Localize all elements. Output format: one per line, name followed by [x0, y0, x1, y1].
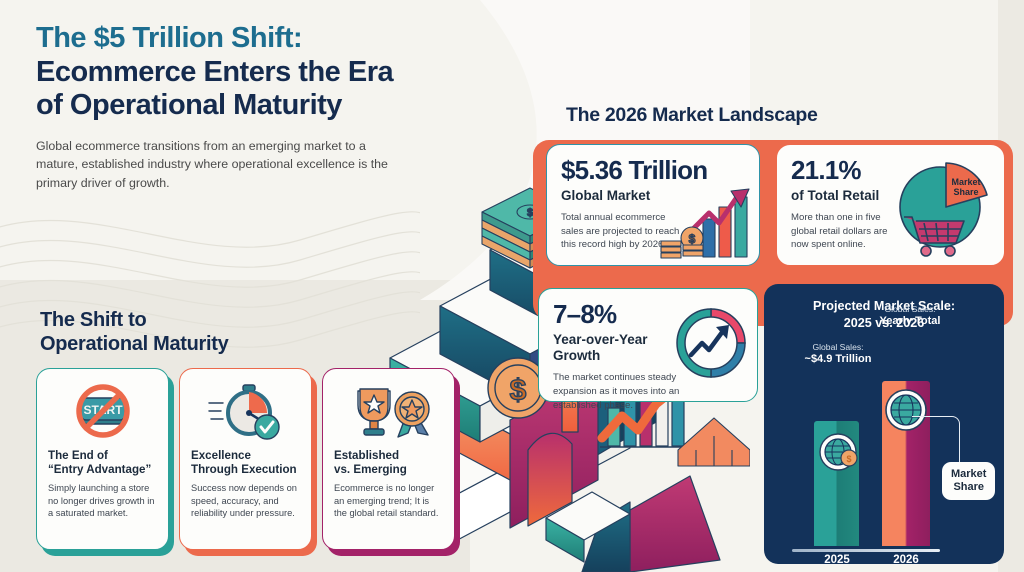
- stat-body-yoy-growth: The market continues steady expansion as…: [553, 371, 685, 412]
- page-title-line3: of Operational Maturity: [36, 89, 342, 121]
- axis-label-2025: 2025: [810, 554, 864, 564]
- infographic-canvas: The $5 Trillion Shift: Ecommerce Enters …: [0, 0, 1024, 572]
- shift-card-established-emerging: Established vs. Emerging Ecommerce is no…: [322, 368, 455, 550]
- shift-section-heading: The Shift to Operational Maturity: [40, 308, 228, 357]
- stat-body-total-retail: More than one in five global retail doll…: [791, 211, 899, 252]
- svg-text:$: $: [510, 374, 527, 407]
- shift-card-list: START The End of “Entry Advantage” Simpl…: [36, 368, 455, 550]
- bar-caption-2026-small: Global Sales:: [858, 304, 962, 315]
- stat-value-global-market: $5.36 Trillion: [561, 157, 745, 183]
- shift-card-body: Success now depends on speed, accuracy, …: [191, 482, 300, 520]
- bar-chart-arrow-coins-icon: $: [657, 183, 753, 261]
- trophy-award-ribbon-icon: [334, 381, 443, 443]
- landscape-section-heading: The 2026 Market Landscape: [566, 104, 818, 127]
- shift-card-title-line1: Established: [334, 449, 443, 463]
- pie-chart-shopping-cart-icon: Market Share: [888, 151, 1000, 261]
- chart-axis-line: [792, 549, 940, 552]
- shift-card-body: Ecommerce is no longer an emerging trend…: [334, 482, 443, 520]
- bar-caption-2025-big: ~$4.9 Trillion: [786, 353, 890, 367]
- callout-connector-line: [912, 416, 960, 466]
- shift-heading-line2: Operational Maturity: [40, 333, 228, 355]
- bar-caption-2025: Global Sales: ~$4.9 Trillion: [786, 342, 890, 366]
- stat-card-yoy-growth: 7–8% Year-over-Year Growth The market co…: [538, 288, 758, 402]
- page-title-line2: Ecommerce Enters the Era: [36, 56, 393, 88]
- donut-chart-growth-arrow-icon: [671, 303, 751, 383]
- stopwatch-checkmark-icon: [191, 381, 300, 443]
- stat-card-global-market: $5.36 Trillion Global Market Total annua…: [546, 144, 760, 266]
- svg-text:Market: Market: [951, 177, 980, 187]
- no-entry-start-button-icon: START: [48, 381, 157, 443]
- globe-coin-icon-2025: $: [818, 432, 858, 472]
- bar-caption-2026-big: Yearly Total: [858, 315, 962, 329]
- bar-chart: Global Sales: Yearly Total Global Sales:…: [764, 344, 1004, 564]
- bar-caption-2026: Global Sales: Yearly Total: [858, 304, 962, 328]
- page-title: The $5 Trillion Shift: Ecommerce Enters …: [36, 22, 506, 123]
- shift-card-title-line1: Excellence: [191, 449, 300, 463]
- page-title-line1: The $5 Trillion Shift:: [36, 22, 506, 56]
- axis-label-2026: 2026: [878, 554, 934, 564]
- svg-text:$: $: [689, 232, 696, 246]
- svg-text:$: $: [846, 454, 851, 464]
- stat-card-total-retail: 21.1% of Total Retail More than one in f…: [776, 144, 1005, 266]
- bar-caption-2025-small: Global Sales:: [786, 342, 890, 353]
- shift-card-title-line2: vs. Emerging: [334, 463, 443, 477]
- shift-card-title-line1: The End of: [48, 449, 157, 463]
- shift-card-body: Simply launching a store no longer drive…: [48, 482, 157, 520]
- shift-heading-line1: The Shift to: [40, 309, 146, 331]
- roof-shape-icon: [678, 418, 750, 466]
- shift-card-title-line2: Through Execution: [191, 463, 300, 477]
- market-share-callout: MarketShare: [942, 462, 995, 500]
- shift-card-excellence-execution: Excellence Through Execution Success now…: [179, 368, 312, 550]
- shift-card-title-line2: “Entry Advantage”: [48, 463, 157, 477]
- svg-text:Share: Share: [953, 187, 978, 197]
- shift-card-entry-advantage: START The End of “Entry Advantage” Simpl…: [36, 368, 169, 550]
- projected-market-scale-panel: Projected Market Scale: 2025 vs. 2026 Gl…: [764, 284, 1004, 564]
